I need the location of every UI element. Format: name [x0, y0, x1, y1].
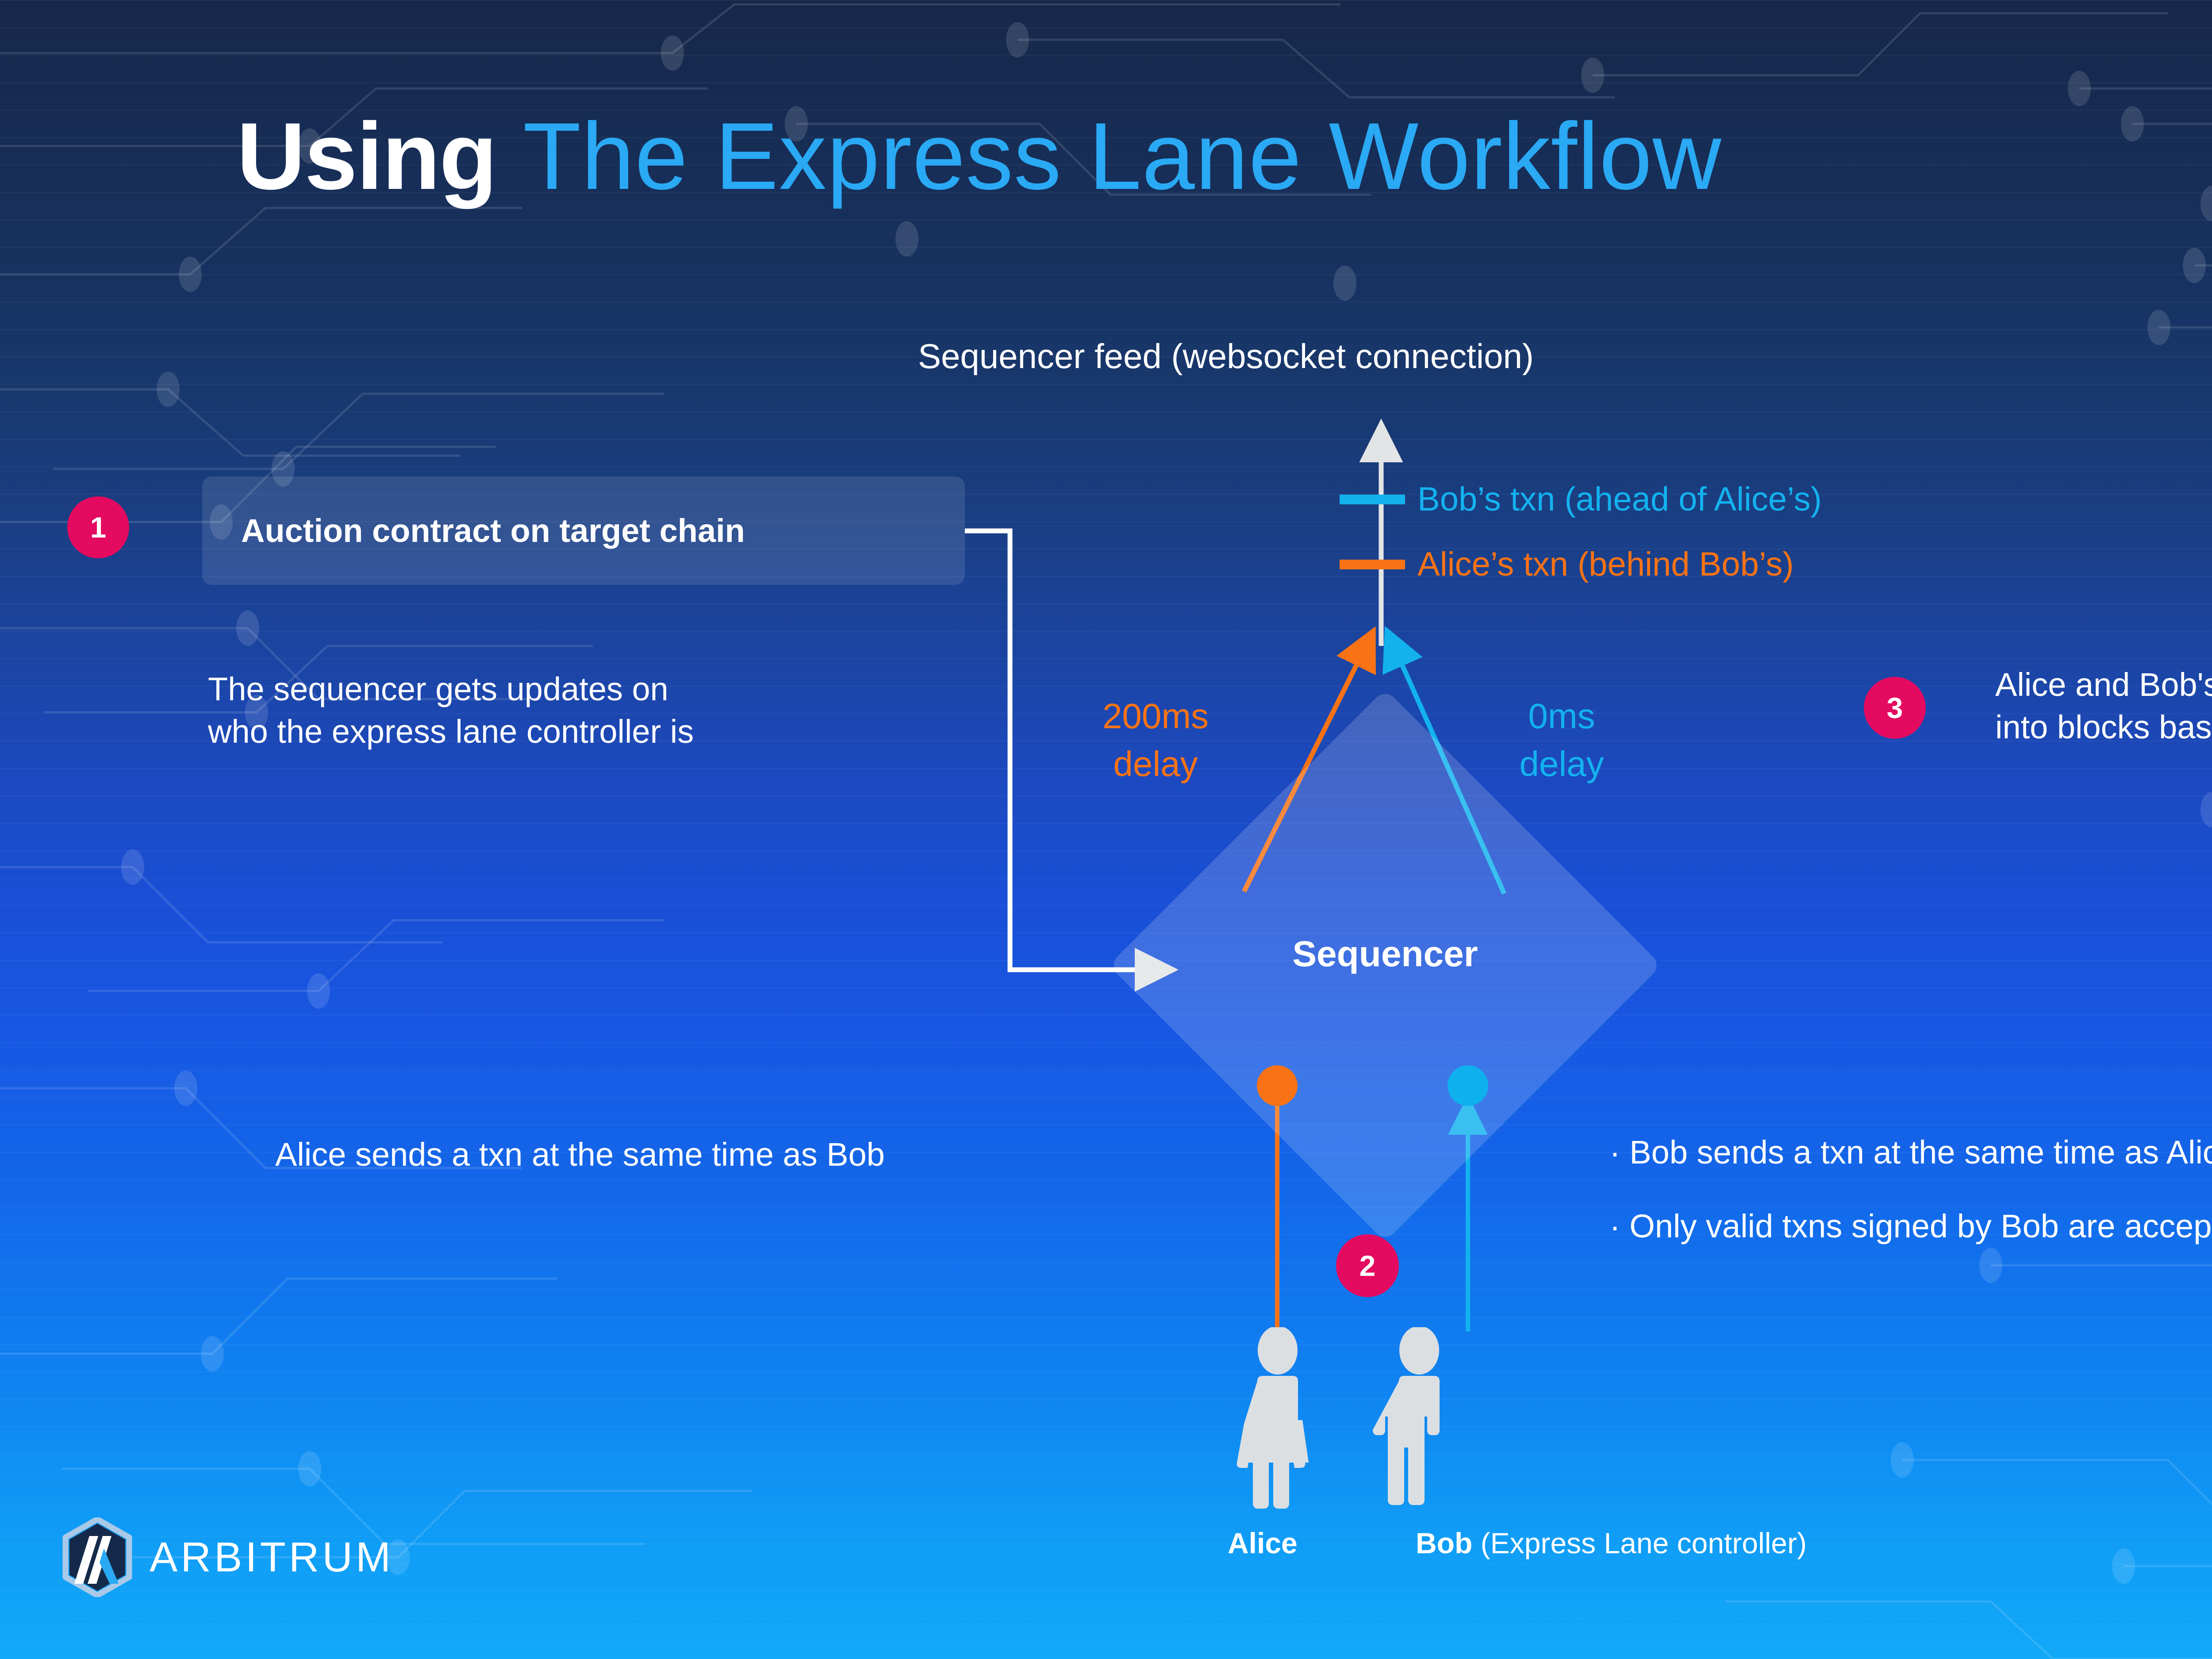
list-item: · Bob sends a txn at the same time as Al…: [1609, 1133, 2212, 1171]
title-light-words: The Express Lane Workflow: [523, 103, 1722, 209]
circuit-pattern-background: [0, 0, 2212, 1659]
diagram-connectors: [0, 0, 2212, 1659]
alice-figure: [1237, 1327, 1309, 1509]
alice-sends-caption: Alice sends a txn at the same time as Bo…: [275, 1133, 885, 1176]
slide-canvas: Using The Express Lane Workflow Sequence…: [0, 0, 2212, 1659]
step-badge-1: 1: [67, 496, 129, 558]
alice-txn-dot: [1257, 1065, 1298, 1106]
sequencer-feed-caption: Sequencer feed (websocket connection): [918, 336, 1534, 376]
step-badge-2: 2: [1336, 1234, 1399, 1297]
arbitrum-mark-icon: [62, 1517, 133, 1597]
arbitrum-logo: ARBITRUM: [62, 1517, 394, 1597]
alice-name-label: Alice: [1228, 1526, 1298, 1560]
bob-bullet-list: · Bob sends a txn at the same time as Al…: [1609, 1133, 2212, 1281]
bob-figure: [1373, 1327, 1440, 1505]
people-figures: [1221, 1327, 1548, 1517]
sequencer-updates-paragraph: The sequencer gets updates on who the ex…: [208, 668, 694, 753]
step3-paragraph: Alice and Bob's txns get ordered into bl…: [1995, 664, 2212, 749]
legend-row-alice: Alice’s txn (behind Bob’s): [1340, 545, 1794, 584]
step-badge-3: 3: [1864, 677, 1926, 739]
scanline-overlay: [0, 0, 2212, 1659]
auction-contract-box: Auction contract on target chain: [202, 476, 965, 585]
arbitrum-wordmark: ARBITRUM: [150, 1533, 394, 1582]
alice-delay-label: 200ms delay: [1076, 692, 1235, 788]
legend-dash-bob: [1340, 495, 1405, 504]
page-title: Using The Express Lane Workflow: [237, 108, 1722, 204]
step3-line-1: Alice and Bob's txns get ordered: [1995, 664, 2212, 706]
legend-row-bob: Bob’s txn (ahead of Alice’s): [1340, 480, 1822, 518]
legend-label-bob: Bob’s txn (ahead of Alice’s): [1417, 480, 1822, 518]
auction-contract-label: Auction contract on target chain: [202, 512, 745, 549]
list-item: · Only valid txns signed by Bob are acce…: [1609, 1207, 2212, 1245]
legend-dash-alice: [1340, 560, 1405, 569]
bob-delay-amount: 0ms: [1495, 692, 1628, 740]
bob-delay-word: delay: [1495, 740, 1628, 788]
step3-line-2: into blocks based on timestamp: [1995, 706, 2212, 749]
alice-delay-amount: 200ms: [1076, 692, 1235, 740]
bob-name-bold: Bob: [1416, 1527, 1472, 1559]
sequencer-node-label: Sequencer: [1190, 933, 1581, 975]
bob-txn-dot: [1448, 1065, 1488, 1106]
alice-delay-word: delay: [1076, 740, 1235, 788]
title-bold-word: Using: [237, 103, 496, 209]
sequencer-updates-line-1: The sequencer gets updates on: [208, 668, 694, 710]
bob-name-label: Bob (Express Lane controller): [1416, 1526, 1807, 1560]
legend-label-alice: Alice’s txn (behind Bob’s): [1417, 545, 1794, 584]
bob-delay-label: 0ms delay: [1495, 692, 1628, 788]
sequencer-updates-line-2: who the express lane controller is: [208, 710, 694, 753]
bob-role-note: (Express Lane controller): [1472, 1527, 1807, 1559]
